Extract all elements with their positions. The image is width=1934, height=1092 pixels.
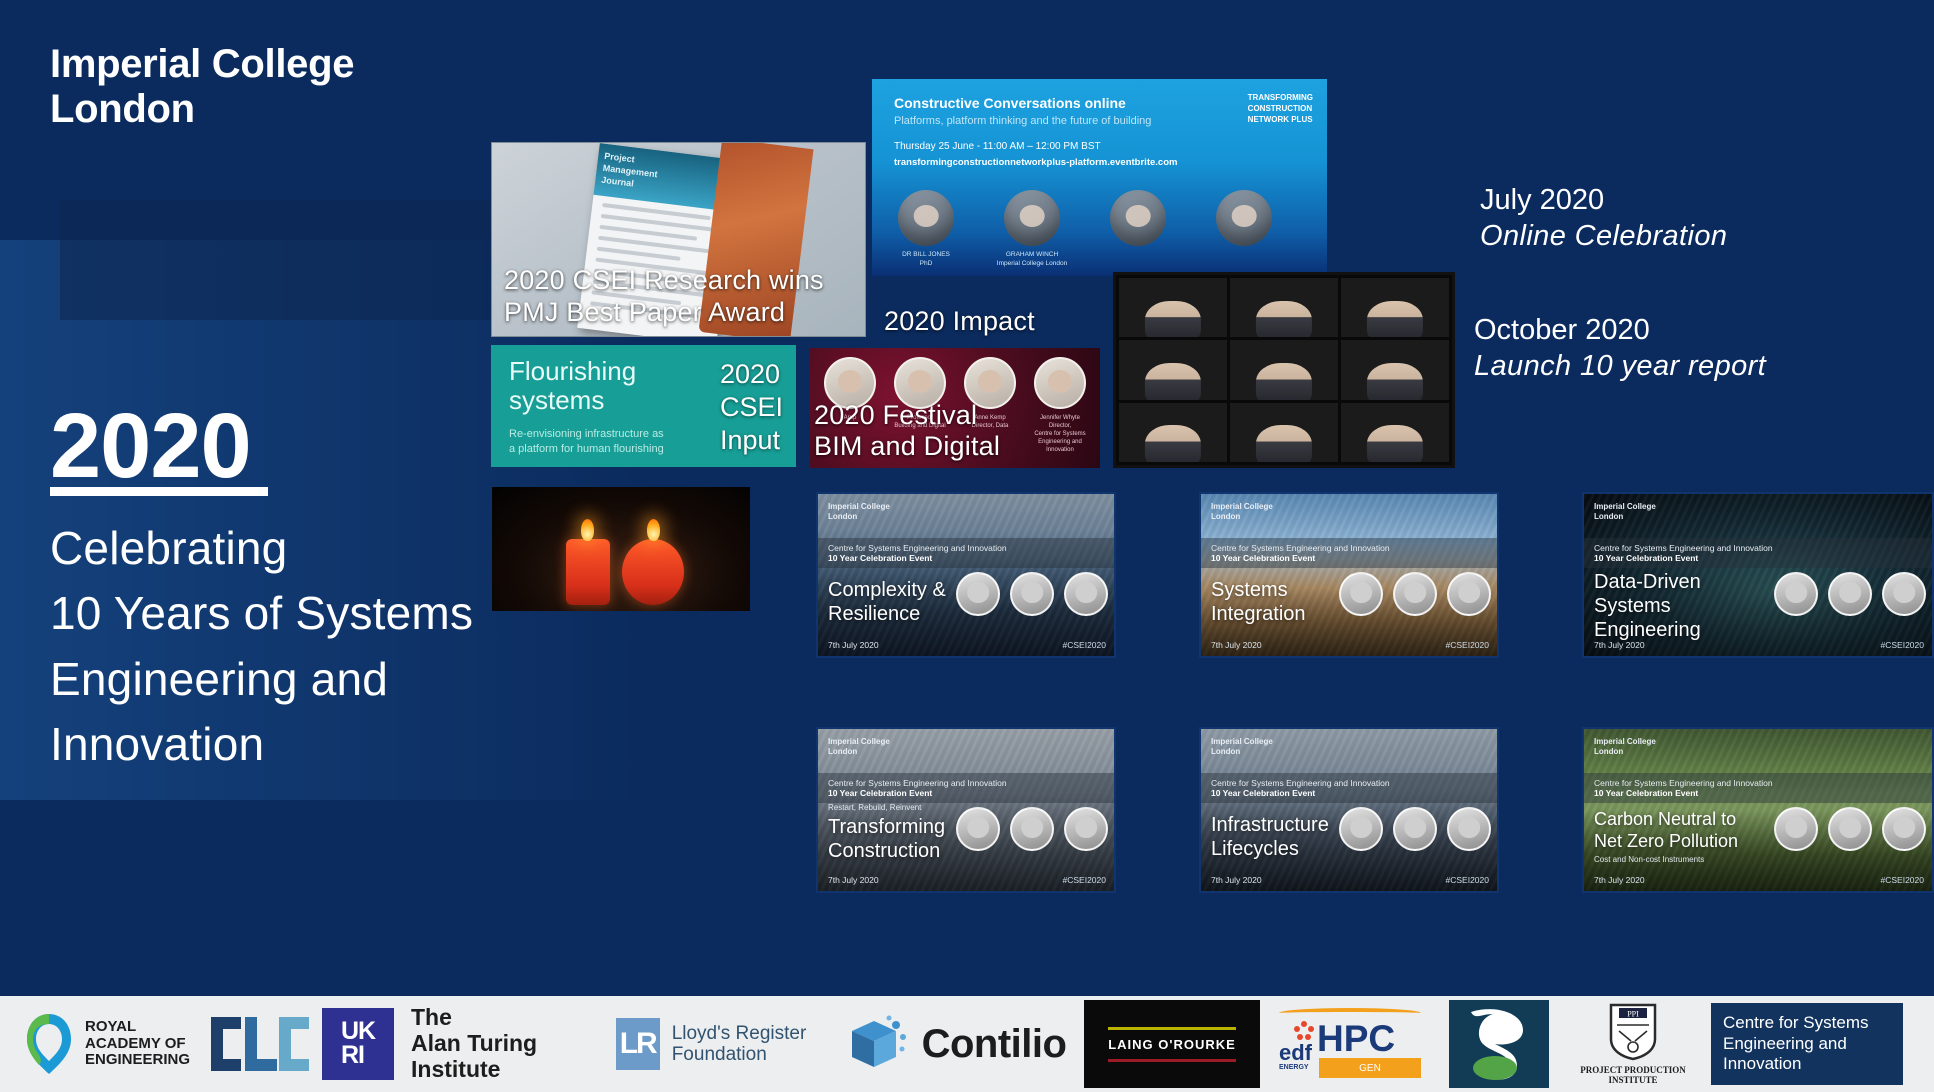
participant-video — [1145, 425, 1201, 462]
centre-name: Centre for Systems Engineering and Innov… — [1594, 778, 1922, 788]
logo-text: PROJECT PRODUCTION INSTITUTE — [1580, 1065, 1686, 1085]
event-series: 10 Year Celebration Event — [1211, 553, 1487, 563]
participant-video — [1256, 301, 1312, 338]
event-card-systems-integration[interactable]: Imperial College London Centre for Syste… — [1199, 492, 1499, 658]
event-date: October 2020 — [1474, 312, 1766, 348]
avatar — [956, 572, 1000, 616]
event-hashtag: #CSEI2020 — [1446, 640, 1489, 650]
centre-name: Centre for Systems Engineering and Innov… — [828, 778, 1104, 788]
imperial-college-logo: Imperial College London — [50, 42, 354, 132]
flame-icon — [647, 519, 660, 541]
logo-royal-academy-of-engineering[interactable]: ROYAL ACADEMY OF ENGINEERING — [0, 996, 205, 1092]
zoom-tile[interactable] — [1341, 278, 1449, 337]
avatar — [1064, 572, 1108, 616]
logo-text: Centre for Systems Engineering and Innov… — [1723, 1013, 1869, 1075]
constructive-conversations-card[interactable]: Constructive Conversations online Platfo… — [872, 79, 1327, 276]
lr-mark-icon: LR — [616, 1018, 660, 1070]
zoom-tile[interactable] — [1119, 278, 1227, 337]
logo-text: ROYAL ACADEMY OF ENGINEERING — [85, 1019, 190, 1069]
participant-video — [1367, 363, 1423, 400]
event-band: Centre for Systems Engineering and Innov… — [1584, 773, 1932, 803]
festival-caption: 2020 Festival BIM and Digital — [814, 400, 1000, 463]
event-series: 10 Year Celebration Event — [828, 788, 1104, 798]
event-date: 7th July 2020 — [1594, 640, 1645, 650]
logo-project-production-institute[interactable]: PPI PROJECT PRODUCTION INSTITUTE — [1559, 996, 1707, 1092]
imperial-logo: Imperial College London — [828, 737, 890, 757]
avatar — [1882, 807, 1926, 851]
event-title: Data-Driven Systems Engineering — [1594, 570, 1701, 642]
clc-mark-icon — [209, 1013, 311, 1075]
avatar — [1393, 807, 1437, 851]
avatar — [1447, 807, 1491, 851]
logo-clc[interactable] — [205, 996, 315, 1092]
avatar — [1393, 572, 1437, 616]
cc-subtitle: Platforms, platform thinking and the fut… — [894, 115, 1151, 127]
participant-video — [1256, 425, 1312, 462]
avatar — [956, 807, 1000, 851]
avatar — [1010, 807, 1054, 851]
logo-b-swirl[interactable] — [1439, 996, 1559, 1092]
speaker-name: Jennifer Whyte Director, Centre for Syst… — [1027, 414, 1093, 454]
centre-name: Centre for Systems Engineering and Innov… — [1594, 543, 1922, 553]
event-hashtag: #CSEI2020 — [1446, 875, 1489, 885]
logo-text: UK RI — [341, 1020, 375, 1068]
svg-text:PPI: PPI — [1627, 1009, 1639, 1018]
participant-video — [1367, 425, 1423, 462]
zoom-tile[interactable] — [1230, 403, 1338, 462]
avatar — [1774, 572, 1818, 616]
speaker-avatars — [1339, 572, 1491, 616]
centre-name: Centre for Systems Engineering and Innov… — [828, 543, 1104, 553]
event-band: Centre for Systems Engineering and Innov… — [1201, 538, 1497, 568]
event-date: 7th July 2020 — [1211, 875, 1262, 885]
avatar — [1447, 572, 1491, 616]
cc-title: Constructive Conversations online — [894, 95, 1126, 111]
centre-name: Centre for Systems Engineering and Innov… — [1211, 543, 1487, 553]
flourishing-subtitle: Re-envisioning infrastructure as a platf… — [509, 427, 699, 457]
logo-lloyds-register-foundation[interactable]: LR Lloyd's Register Foundation — [591, 996, 831, 1092]
event-card-transforming-construction[interactable]: Imperial College London Centre for Syste… — [816, 727, 1116, 893]
zoom-tile[interactable] — [1119, 340, 1227, 399]
speaker-avatars — [1774, 572, 1926, 616]
zoom-tile[interactable] — [1119, 403, 1227, 462]
speaker-avatars — [1774, 807, 1926, 851]
raeng-mark-icon — [23, 1011, 75, 1077]
participant-video — [1145, 301, 1201, 338]
logo-line-2: London — [50, 87, 354, 132]
event-hashtag: #CSEI2020 — [1063, 640, 1106, 650]
event-subtitle: Restart, Rebuild, Reinvent — [828, 803, 921, 812]
logo-text: HPC — [1317, 1018, 1395, 1060]
candle-digit-one — [566, 539, 610, 605]
logo-contilio[interactable]: Contilio — [831, 996, 1081, 1092]
logo-alan-turing-institute[interactable]: The Alan Turing Institute — [401, 996, 591, 1092]
pmj-award-card[interactable]: Project Management Journal 2020 CSEI Res… — [491, 142, 866, 337]
edf-energy-text: ENERGY — [1279, 1064, 1309, 1071]
presentation-slide: Imperial College London 2020 Celebrating… — [0, 0, 1934, 1092]
avatar — [1774, 807, 1818, 851]
logo-ukri[interactable]: UK RI — [315, 996, 401, 1092]
event-band: Centre for Systems Engineering and Innov… — [818, 773, 1114, 803]
contilio-cube-icon — [846, 1013, 908, 1075]
page-title-year: 2020 — [50, 400, 251, 492]
logo-edf-hpc[interactable]: HPC edf ENERGY GEN — [1263, 996, 1439, 1092]
event-series: 10 Year Celebration Event — [1211, 788, 1487, 798]
zoom-tile[interactable] — [1230, 278, 1338, 337]
avatar — [1882, 572, 1926, 616]
anniversary-candles-card[interactable] — [492, 487, 750, 611]
speaker-avatars — [956, 572, 1108, 616]
edf-text: edf — [1279, 1040, 1312, 1066]
event-date: 7th July 2020 — [828, 640, 879, 650]
avatar — [1828, 572, 1872, 616]
speaker-avatar — [1004, 190, 1060, 246]
b-swirl-icon — [1449, 1000, 1549, 1088]
title-underline — [50, 487, 268, 496]
transforming-construction-badge: TRANSFORMING CONSTRUCTION NETWORK PLUS — [1248, 93, 1313, 125]
avatar — [1064, 807, 1108, 851]
avatar — [1010, 572, 1054, 616]
gen-badge: GEN — [1319, 1058, 1421, 1078]
imperial-logo: Imperial College London — [1594, 737, 1656, 757]
cc-datetime: Thursday 25 June - 11:00 AM – 12:00 PM B… — [894, 141, 1101, 152]
event-card-carbon-neutral-net-zero[interactable]: Imperial College London Centre for Syste… — [1582, 727, 1934, 893]
partner-logos-footer: ROYAL ACADEMY OF ENGINEERING UK RI The A… — [0, 996, 1934, 1092]
zoom-tile[interactable] — [1341, 403, 1449, 462]
event-series: 10 Year Celebration Event — [828, 553, 1104, 563]
event-name: Online Celebration — [1480, 218, 1727, 254]
speaker-name: DR BILL JONES PhD — [889, 251, 963, 268]
event-hashtag: #CSEI2020 — [1881, 640, 1924, 650]
speaker-name: GRAHAM WINCH Imperial College London — [995, 251, 1069, 268]
event-title: Carbon Neutral to Net Zero Pollution — [1594, 809, 1738, 852]
imperial-logo: Imperial College London — [1211, 502, 1273, 522]
flourishing-title: Flourishing systems — [509, 357, 636, 414]
imperial-logo: Imperial College London — [1211, 737, 1273, 757]
event-date: 7th July 2020 — [1594, 875, 1645, 885]
event-series: 10 Year Celebration Event — [1594, 553, 1922, 563]
flame-icon — [581, 519, 594, 541]
speaker-avatar — [898, 190, 954, 246]
event-title: Transforming Construction — [828, 815, 945, 863]
speaker-avatars — [956, 807, 1108, 851]
imperial-logo: Imperial College London — [828, 502, 890, 522]
centre-name: Centre for Systems Engineering and Innov… — [1211, 778, 1487, 788]
event-band: Centre for Systems Engineering and Innov… — [1201, 773, 1497, 803]
event-card-infrastructure-lifecycles[interactable]: Imperial College London Centre for Syste… — [1199, 727, 1499, 893]
event-date: July 2020 — [1480, 182, 1727, 218]
logo-line-1: Imperial College — [50, 42, 354, 87]
event-series: 10 Year Celebration Event — [1594, 788, 1922, 798]
zoom-tile[interactable] — [1341, 340, 1449, 399]
event-hashtag: #CSEI2020 — [1063, 875, 1106, 885]
impact-caption: 2020 Impact — [884, 306, 1035, 337]
avatar — [1339, 572, 1383, 616]
speaker-avatar — [1216, 190, 1272, 246]
ppi-shield-icon: PPI — [1607, 1003, 1659, 1061]
event-date: 7th July 2020 — [828, 875, 879, 885]
speaker-avatar — [1034, 357, 1086, 409]
imperial-logo: Imperial College London — [1594, 502, 1656, 522]
logo-text: Lloyd's Register Foundation — [672, 1023, 807, 1066]
avatar — [1828, 807, 1872, 851]
event-subtitle: Cost and Non-cost Instruments — [1594, 855, 1704, 864]
upcoming-event-july: July 2020 Online Celebration — [1480, 182, 1727, 255]
edf-flower-icon — [1293, 1020, 1315, 1042]
participant-video — [1145, 363, 1201, 400]
event-title: Infrastructure Lifecycles — [1211, 813, 1329, 861]
event-card-data-driven-systems-engineering[interactable]: Imperial College London Centre for Syste… — [1582, 492, 1934, 658]
participant-video — [1367, 301, 1423, 338]
cc-eventbrite-url[interactable]: transformingconstructionnetworkplus-plat… — [894, 157, 1177, 168]
zoom-call-grid[interactable] — [1113, 272, 1455, 468]
event-band: Centre for Systems Engineering and Innov… — [818, 538, 1114, 568]
logo-text: LAING O'ROURKE — [1108, 1037, 1236, 1052]
event-title: Complexity & Resilience — [828, 578, 946, 626]
logo-text: Contilio — [922, 1022, 1067, 1067]
pmj-caption: 2020 CSEI Research wins PMJ Best Paper A… — [504, 265, 824, 328]
event-hashtag: #CSEI2020 — [1881, 875, 1924, 885]
participant-video — [1256, 363, 1312, 400]
event-title: Systems Integration — [1211, 578, 1306, 626]
zoom-tile[interactable] — [1230, 340, 1338, 399]
logo-centre-for-systems-engineering-and-innovation[interactable]: Centre for Systems Engineering and Innov… — [1707, 996, 1907, 1092]
candle-digit-zero — [622, 539, 684, 605]
speaker-avatar — [1110, 190, 1166, 246]
event-band: Centre for Systems Engineering and Innov… — [1584, 538, 1932, 568]
event-date: 7th July 2020 — [1211, 640, 1262, 650]
event-card-complexity-resilience[interactable]: Imperial College London Centre for Syste… — [816, 492, 1116, 658]
avatar — [1339, 807, 1383, 851]
logo-text: The Alan Turing Institute — [411, 1005, 537, 1082]
speaker-avatars — [1339, 807, 1491, 851]
logo-laing-orourke[interactable]: LAING O'ROURKE — [1081, 996, 1263, 1092]
